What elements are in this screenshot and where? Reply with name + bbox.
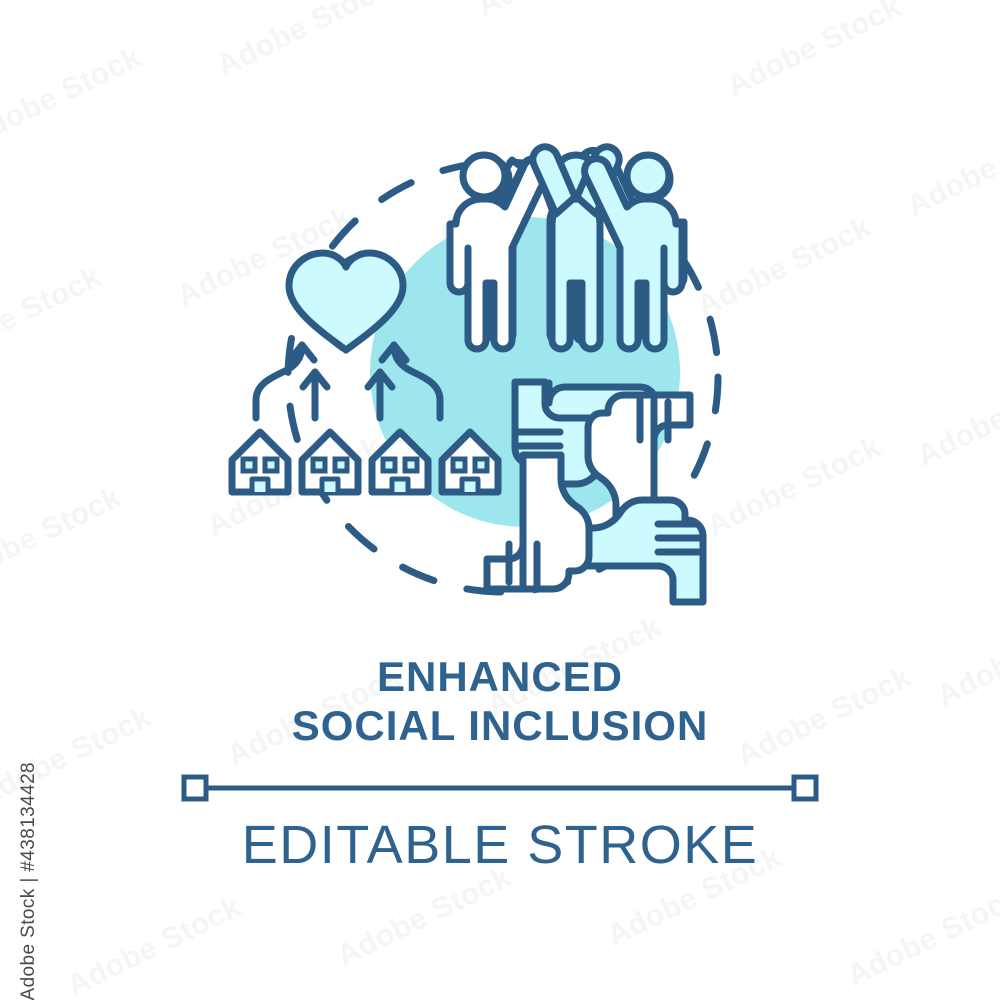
stroke-handle-right[interactable]: [794, 777, 816, 799]
stroke-handle-left[interactable]: [184, 777, 206, 799]
editable-stroke-label: EDITABLE STROKE: [0, 814, 1000, 876]
arrow-straight-left: [303, 372, 327, 418]
stroke-rule-graphic: [180, 772, 820, 804]
house: [232, 432, 288, 492]
people-group-final: [450, 147, 682, 349]
editable-stroke-block: EDITABLE STROKE: [0, 772, 1000, 876]
concept-icon-canvas: Adobe Stock Adobe Stock Adobe Stock Adob…: [0, 0, 1000, 1000]
house: [302, 432, 358, 492]
houses-row: [232, 432, 498, 492]
